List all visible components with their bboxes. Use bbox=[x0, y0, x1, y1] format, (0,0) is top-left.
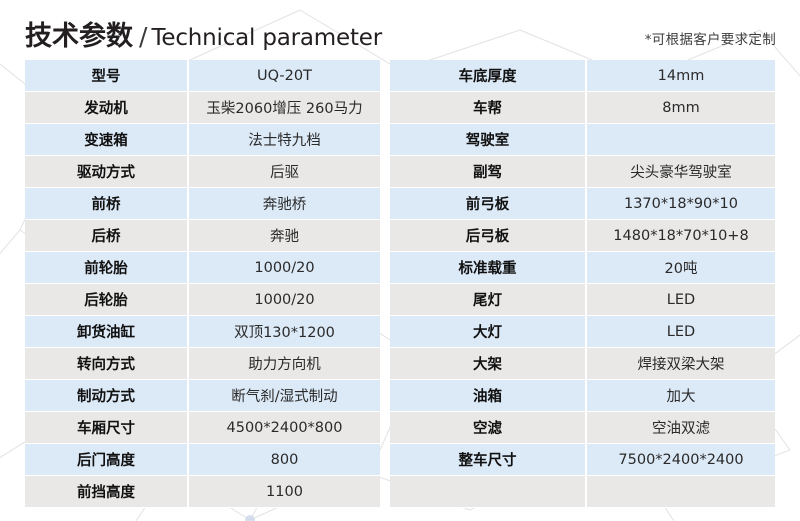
spec-value: 800 bbox=[188, 444, 380, 476]
page-header: 技术参数/Technical parameter *可根据客户要求定制 bbox=[0, 0, 800, 58]
page-title-english: Technical parameter bbox=[151, 25, 382, 51]
table-row: 发动机玉柴2060增压 260马力 bbox=[25, 92, 380, 124]
page-title-separator: / bbox=[133, 22, 151, 51]
spec-label bbox=[390, 476, 586, 508]
customization-note: *可根据客户要求定制 bbox=[645, 28, 776, 48]
spec-value: 玉柴2060增压 260马力 bbox=[188, 92, 380, 124]
table-row: 车厢尺寸4500*2400*800 bbox=[25, 412, 380, 444]
spec-label: 卸货油缸 bbox=[25, 316, 188, 348]
spec-label: 尾灯 bbox=[390, 284, 586, 316]
spec-value bbox=[586, 476, 775, 508]
table-row: 标准载重20吨 bbox=[390, 252, 775, 284]
spec-label: 变速箱 bbox=[25, 124, 188, 156]
table-row: 副驾尖头豪华驾驶室 bbox=[390, 156, 775, 188]
page-title-chinese: 技术参数 bbox=[25, 21, 133, 52]
spec-value: LED bbox=[586, 284, 775, 316]
table-row: 空滤空油双滤 bbox=[390, 412, 775, 444]
spec-value: 焊接双梁大架 bbox=[586, 348, 775, 380]
spec-label: 标准载重 bbox=[390, 252, 586, 284]
table-row: 后弓板1480*18*70*10+8 bbox=[390, 220, 775, 252]
spec-label: 驾驶室 bbox=[390, 124, 586, 156]
table-row: 车底厚度14mm bbox=[390, 60, 775, 92]
spec-label: 后轮胎 bbox=[25, 284, 188, 316]
spec-label: 发动机 bbox=[25, 92, 188, 124]
spec-value: LED bbox=[586, 316, 775, 348]
spec-label: 后弓板 bbox=[390, 220, 586, 252]
table-row: 卸货油缸双顶130*1200 bbox=[25, 316, 380, 348]
spec-value: 空油双滤 bbox=[586, 412, 775, 444]
spec-value: 14mm bbox=[586, 60, 775, 92]
spec-value: 1480*18*70*10+8 bbox=[586, 220, 775, 252]
spec-label: 后门高度 bbox=[25, 444, 188, 476]
spec-label: 驱动方式 bbox=[25, 156, 188, 188]
spec-value: 1000/20 bbox=[188, 284, 380, 316]
table-row: 型号UQ-20T bbox=[25, 60, 380, 92]
spec-label: 制动方式 bbox=[25, 380, 188, 412]
spec-label: 转向方式 bbox=[25, 348, 188, 380]
spec-label: 空滤 bbox=[390, 412, 586, 444]
spec-table-left: 型号UQ-20T发动机玉柴2060增压 260马力变速箱法士特九档驱动方式后驱前… bbox=[25, 60, 380, 508]
table-row: 变速箱法士特九档 bbox=[25, 124, 380, 156]
spec-value: 断气刹/湿式制动 bbox=[188, 380, 380, 412]
table-row bbox=[390, 476, 775, 508]
spec-label: 后桥 bbox=[25, 220, 188, 252]
spec-label: 大灯 bbox=[390, 316, 586, 348]
spec-label: 副驾 bbox=[390, 156, 586, 188]
table-row: 驱动方式后驱 bbox=[25, 156, 380, 188]
spec-value bbox=[586, 124, 775, 156]
spec-value: 8mm bbox=[586, 92, 775, 124]
spec-value: 法士特九档 bbox=[188, 124, 380, 156]
spec-value: 20吨 bbox=[586, 252, 775, 284]
table-row: 制动方式断气刹/湿式制动 bbox=[25, 380, 380, 412]
spec-value: 后驱 bbox=[188, 156, 380, 188]
table-row: 整车尺寸7500*2400*2400 bbox=[390, 444, 775, 476]
table-row: 后桥奔驰 bbox=[25, 220, 380, 252]
spec-value: 7500*2400*2400 bbox=[586, 444, 775, 476]
spec-label: 前轮胎 bbox=[25, 252, 188, 284]
spec-value: 1000/20 bbox=[188, 252, 380, 284]
spec-label: 前桥 bbox=[25, 188, 188, 220]
spec-label: 大架 bbox=[390, 348, 586, 380]
table-row: 转向方式助力方向机 bbox=[25, 348, 380, 380]
spec-value: 双顶130*1200 bbox=[188, 316, 380, 348]
spec-label: 油箱 bbox=[390, 380, 586, 412]
spec-label: 前弓板 bbox=[390, 188, 586, 220]
table-row: 后轮胎1000/20 bbox=[25, 284, 380, 316]
spec-label: 车帮 bbox=[390, 92, 586, 124]
table-row: 尾灯LED bbox=[390, 284, 775, 316]
spec-value: 助力方向机 bbox=[188, 348, 380, 380]
spec-table-right-body: 车底厚度14mm车帮8mm驾驶室副驾尖头豪华驾驶室前弓板1370*18*90*1… bbox=[390, 60, 775, 508]
spec-label: 整车尺寸 bbox=[390, 444, 586, 476]
spec-value: 1370*18*90*10 bbox=[586, 188, 775, 220]
spec-table-right: 车底厚度14mm车帮8mm驾驶室副驾尖头豪华驾驶室前弓板1370*18*90*1… bbox=[390, 60, 775, 508]
table-row: 油箱加大 bbox=[390, 380, 775, 412]
table-row: 前桥奔驰桥 bbox=[25, 188, 380, 220]
table-row: 后门高度800 bbox=[25, 444, 380, 476]
spec-value: 1100 bbox=[188, 476, 380, 508]
spec-label: 型号 bbox=[25, 60, 188, 92]
table-row: 前挡高度1100 bbox=[25, 476, 380, 508]
table-row: 大灯LED bbox=[390, 316, 775, 348]
page-title: 技术参数/Technical parameter bbox=[25, 14, 382, 53]
spec-label: 车厢尺寸 bbox=[25, 412, 188, 444]
table-row: 车帮8mm bbox=[390, 92, 775, 124]
spec-value: 奔驰 bbox=[188, 220, 380, 252]
spec-table-left-body: 型号UQ-20T发动机玉柴2060增压 260马力变速箱法士特九档驱动方式后驱前… bbox=[25, 60, 380, 508]
spec-label: 车底厚度 bbox=[390, 60, 586, 92]
spec-value: 加大 bbox=[586, 380, 775, 412]
table-row: 大架焊接双梁大架 bbox=[390, 348, 775, 380]
spec-label: 前挡高度 bbox=[25, 476, 188, 508]
spec-value: 4500*2400*800 bbox=[188, 412, 380, 444]
table-row: 前弓板1370*18*90*10 bbox=[390, 188, 775, 220]
spec-value: 尖头豪华驾驶室 bbox=[586, 156, 775, 188]
technical-parameter-page: 技术参数/Technical parameter *可根据客户要求定制 型号UQ… bbox=[0, 0, 800, 521]
spec-value: UQ-20T bbox=[188, 60, 380, 92]
spec-value: 奔驰桥 bbox=[188, 188, 380, 220]
table-row: 驾驶室 bbox=[390, 124, 775, 156]
table-row: 前轮胎1000/20 bbox=[25, 252, 380, 284]
